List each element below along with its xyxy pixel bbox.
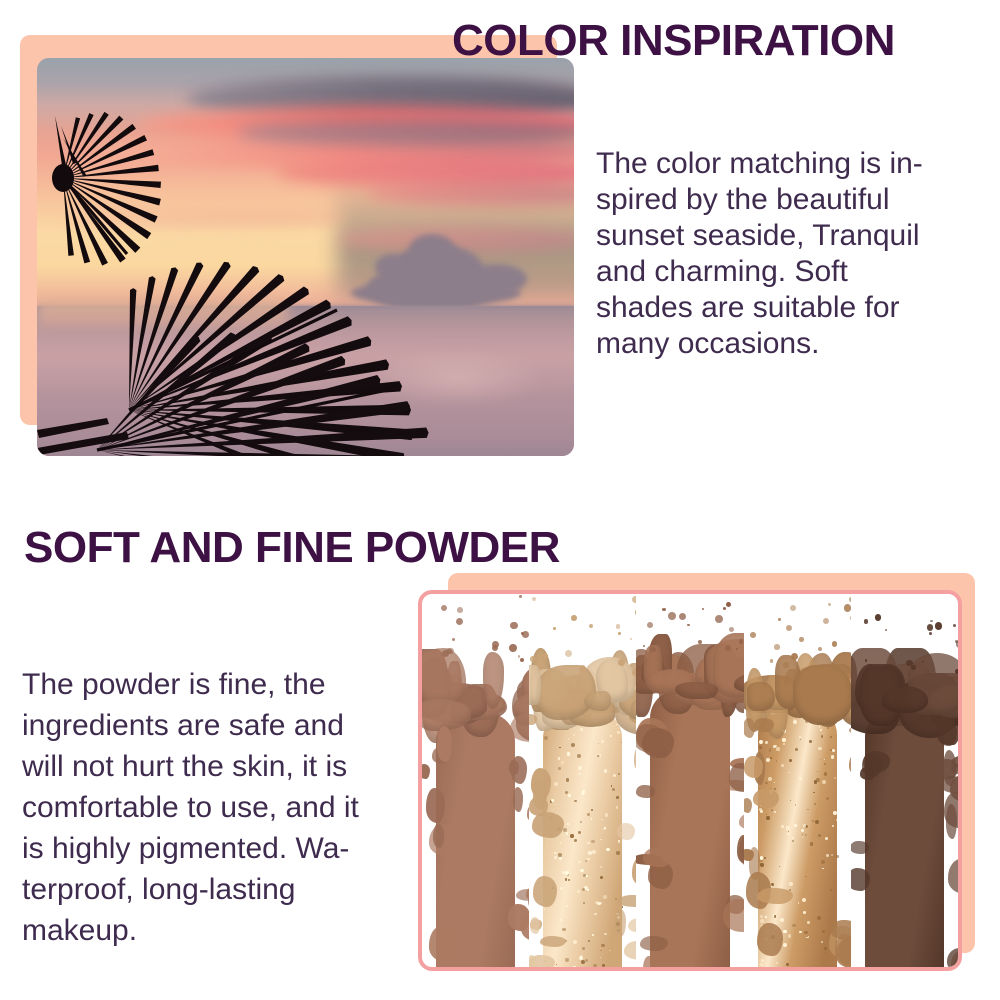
powder-speck xyxy=(865,659,868,662)
powder-speck xyxy=(616,624,621,629)
powder-speck xyxy=(618,632,621,635)
page-title-color-inspiration: COLOR INSPIRATION xyxy=(452,16,895,66)
swatch-pressed-core xyxy=(543,710,622,967)
powder-crumb xyxy=(531,768,551,799)
powder-crumb xyxy=(937,759,958,779)
powder-crumb xyxy=(615,909,626,936)
powder-crumb xyxy=(757,923,782,956)
powder-crumb xyxy=(529,665,540,705)
body-line: and charming. Soft xyxy=(596,254,923,290)
body-line: The color matching is in- xyxy=(596,146,923,182)
swatch-pressed-core xyxy=(865,709,944,967)
powder-speck xyxy=(571,615,577,621)
powder-crumb xyxy=(642,728,674,758)
powder-speck xyxy=(956,640,958,647)
eyeshadow-swatch-matte-deep-brown xyxy=(851,594,958,967)
powder-crumb xyxy=(860,767,875,781)
body-line: The powder is fine, the xyxy=(22,664,359,705)
powder-crumb xyxy=(437,726,451,762)
powder-speck xyxy=(715,615,723,623)
powder-crumb xyxy=(530,917,540,934)
product-feature-page: COLOR INSPIRATION The color matching is … xyxy=(0,0,1000,1000)
body-copy-soft-and-fine-powder: The powder is fine, the ingredients are … xyxy=(22,664,359,951)
powder-speck xyxy=(750,632,756,638)
powder-speck xyxy=(452,638,455,641)
powder-speck xyxy=(953,624,956,627)
powder-speck xyxy=(702,608,704,610)
powder-speck xyxy=(457,607,463,613)
powder-crumb xyxy=(624,941,636,960)
eyeshadow-swatch-matte-warm-brown xyxy=(422,594,529,967)
powder-crumb xyxy=(636,785,654,798)
body-copy-color-inspiration: The color matching is in- spired by the … xyxy=(596,146,923,362)
powder-crumb xyxy=(757,888,793,904)
powder-speck xyxy=(832,641,837,646)
sunset-seaside-photo xyxy=(37,58,574,456)
powder-crumb xyxy=(426,788,445,823)
eyeshadow-swatch-photo xyxy=(418,590,962,971)
swatch-stage xyxy=(422,594,958,967)
powder-crumb xyxy=(422,764,430,779)
powder-speck xyxy=(530,656,535,661)
powder-crumb xyxy=(937,719,957,745)
powder-crumb xyxy=(747,682,775,712)
powder-speck xyxy=(723,607,726,610)
powder-crumb xyxy=(744,798,752,813)
powder-speck xyxy=(725,645,731,651)
powder-speck xyxy=(935,622,943,630)
powder-crumb xyxy=(882,686,928,713)
powder-crumb xyxy=(753,789,779,808)
powder-speck xyxy=(911,665,916,670)
powder-speck xyxy=(519,595,522,598)
powder-crumb xyxy=(723,899,743,932)
powder-crumb xyxy=(429,926,458,962)
powder-speck xyxy=(828,603,831,606)
powder-speck xyxy=(790,605,796,611)
powder-speck xyxy=(687,624,689,626)
body-line: is highly pigmented. Wa- xyxy=(22,828,359,869)
body-line: terproof, long-lasting xyxy=(22,869,359,910)
powder-crumb xyxy=(513,787,524,812)
powder-speck xyxy=(786,625,792,631)
powder-speck xyxy=(668,612,676,620)
powder-crumb xyxy=(831,920,850,941)
powder-crumb xyxy=(948,859,958,894)
powder-speck xyxy=(589,624,593,628)
powder-speck xyxy=(927,624,933,630)
powder-crumb xyxy=(433,824,444,848)
powder-speck xyxy=(736,648,738,650)
powder-speck xyxy=(783,662,789,668)
body-line: shades are suitable for xyxy=(596,290,923,326)
powder-speck xyxy=(864,619,868,623)
powder-speck xyxy=(618,659,625,666)
powder-speck xyxy=(518,655,520,657)
page-title-soft-and-fine-powder: SOFT AND FINE POWDER xyxy=(24,523,560,573)
powder-speck xyxy=(643,645,646,648)
powder-speck xyxy=(770,659,774,663)
powder-speck xyxy=(729,627,734,632)
powder-crumb xyxy=(851,841,869,854)
powder-crumb xyxy=(584,691,611,711)
powder-speck xyxy=(774,644,779,649)
body-line: ingredients are safe and xyxy=(22,705,359,746)
body-line: sunset seaside, Tranquil xyxy=(596,218,923,254)
body-line: spired by the beautiful xyxy=(596,182,923,218)
powder-speck xyxy=(630,638,632,640)
powder-speck xyxy=(875,614,881,620)
powder-speck xyxy=(662,608,666,612)
powder-crumb xyxy=(946,804,957,839)
powder-crumb xyxy=(533,876,557,906)
body-line: makeup. xyxy=(22,910,359,951)
powder-crumb xyxy=(511,756,528,784)
powder-speck xyxy=(520,658,524,662)
powder-speck xyxy=(647,622,653,628)
body-line: will not hurt the skin, it is xyxy=(22,746,359,787)
powder-speck xyxy=(726,602,731,607)
powder-speck xyxy=(565,650,573,658)
powder-crumb xyxy=(754,718,774,732)
powder-speck xyxy=(955,669,958,674)
powder-crumb xyxy=(643,848,672,867)
powder-crumb xyxy=(617,823,634,839)
powder-speck xyxy=(844,604,851,612)
powder-speck xyxy=(885,629,887,631)
powder-speck xyxy=(679,613,686,620)
powder-crumb xyxy=(744,718,756,738)
powder-speck xyxy=(579,665,586,672)
powder-speck xyxy=(521,632,523,634)
powder-speck xyxy=(930,620,932,622)
body-line: many occasions. xyxy=(596,326,923,362)
powder-speck xyxy=(698,640,702,644)
powder-speck xyxy=(818,647,822,651)
powder-speck xyxy=(650,647,655,652)
powder-speck xyxy=(799,637,804,642)
powder-speck xyxy=(492,645,498,651)
powder-speck xyxy=(823,618,829,624)
palm-frond-silhouette xyxy=(37,58,574,456)
powder-speck xyxy=(867,664,873,670)
body-line: comfortable to use, and it xyxy=(22,787,359,828)
powder-crumb xyxy=(744,756,763,778)
powder-speck xyxy=(510,622,518,630)
powder-speck xyxy=(441,605,447,611)
powder-speck xyxy=(553,627,556,630)
powder-crumb xyxy=(540,936,567,947)
powder-speck xyxy=(532,597,536,601)
eyeshadow-swatch-shimmer-champagne xyxy=(529,594,636,967)
powder-crumb xyxy=(628,918,636,933)
powder-speck xyxy=(509,644,517,652)
powder-speck xyxy=(456,618,463,625)
eyeshadow-swatch-shimmer-bronze-gold xyxy=(744,594,851,967)
powder-speck xyxy=(929,632,932,635)
powder-speck xyxy=(778,618,780,620)
powder-crumb xyxy=(793,665,851,726)
powder-crumb xyxy=(675,682,718,699)
powder-crumb xyxy=(508,904,529,931)
eyeshadow-swatch-matte-tan-brown xyxy=(636,594,743,967)
